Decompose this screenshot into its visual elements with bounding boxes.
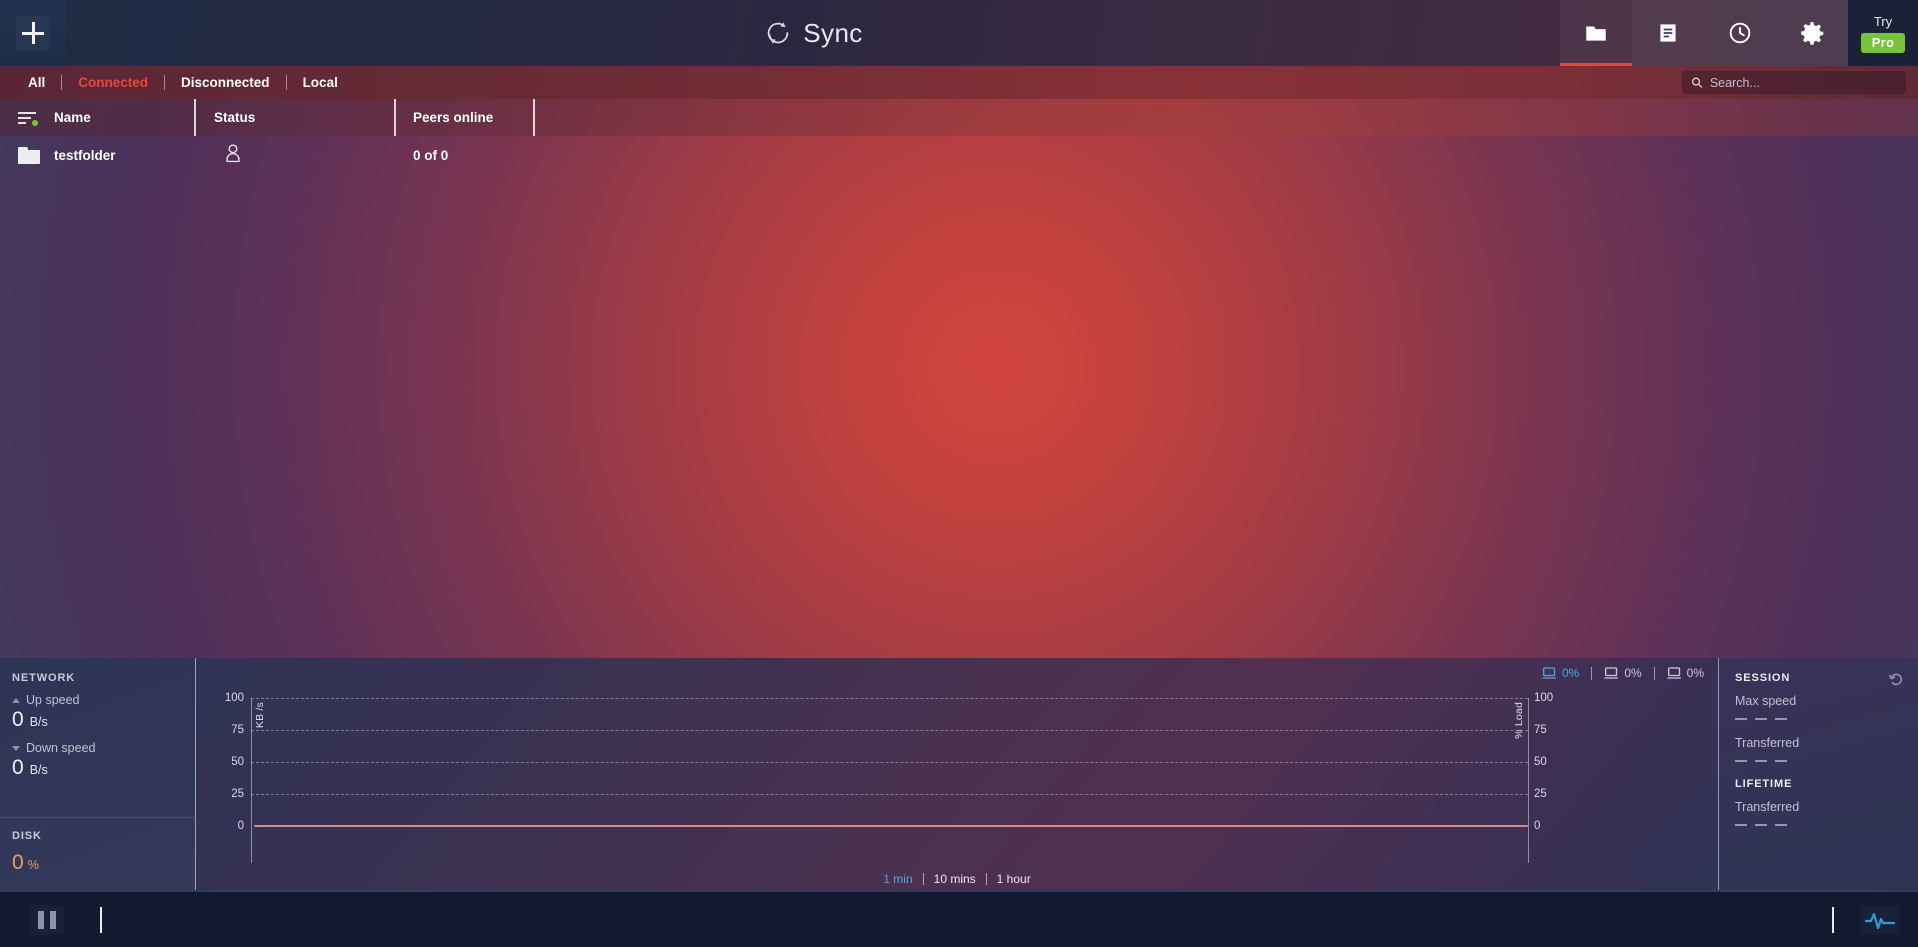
session-transferred-label: Transferred <box>1735 736 1902 750</box>
app-title-area: Sync <box>66 0 1560 66</box>
load-value-2: 0% <box>1624 666 1641 680</box>
disk-unit: % <box>28 858 39 872</box>
lifetime-transferred-value <box>1735 824 1902 826</box>
load-indicator-1: 0% <box>1542 666 1579 680</box>
chart-y2tick-75: 75 <box>1534 724 1568 736</box>
chart-y2tick-25: 25 <box>1534 788 1568 800</box>
chart-ytick-50: 50 <box>210 756 244 768</box>
load-divider <box>1654 667 1655 680</box>
chart-y-axis-left-label: KB /s <box>254 702 266 728</box>
app-title: Sync <box>803 18 862 49</box>
pause-icon[interactable] <box>30 905 64 935</box>
filter-connected[interactable]: Connected <box>62 75 164 90</box>
load-divider <box>1591 667 1592 680</box>
down-speed-value-row: 0 B/s <box>12 756 183 780</box>
add-folder-cell <box>0 0 66 66</box>
search-icon <box>1691 76 1703 89</box>
filter-disconnected[interactable]: Disconnected <box>165 75 286 90</box>
session-stats-panel: SESSION Max speed Transferred LIFETIME T… <box>1718 658 1918 890</box>
load-value-3: 0% <box>1687 666 1704 680</box>
column-header-peers[interactable]: Peers online <box>396 99 535 136</box>
down-speed-label-row: Down speed <box>12 741 183 755</box>
filter-all[interactable]: All <box>12 75 61 90</box>
chart-gridline <box>251 698 1528 699</box>
load-indicator-3: 0% <box>1667 666 1704 680</box>
try-label: Try <box>1874 14 1892 29</box>
column-header-status[interactable]: Status <box>196 99 396 136</box>
chart-gridline <box>251 762 1528 763</box>
chart-time-range-selector: 1 min 10 mins 1 hour <box>196 872 1718 886</box>
chart-y2tick-100: 100 <box>1534 692 1568 704</box>
chart-ytick-25: 25 <box>210 788 244 800</box>
clock-icon <box>1727 20 1753 46</box>
down-speed-unit: B/s <box>30 763 48 777</box>
chart-ytick-0: 0 <box>210 820 244 832</box>
column-header-status-label: Status <box>214 110 255 125</box>
row-peers-cell: 0 of 0 <box>396 148 535 163</box>
load-indicators: 0% 0% 0% <box>1542 666 1704 680</box>
time-range-10mins[interactable]: 10 mins <box>934 872 976 886</box>
sort-indicator-dot <box>32 120 38 126</box>
status-bar <box>0 890 1918 947</box>
load-indicator-2: 0% <box>1604 666 1641 680</box>
time-range-divider <box>986 873 987 885</box>
chart-gridline <box>251 730 1528 731</box>
top-bar: Sync <box>0 0 1918 66</box>
session-title: SESSION <box>1735 672 1902 684</box>
nav-devices-tab[interactable] <box>1632 0 1704 66</box>
disk-block: DISK 0 % <box>0 817 195 890</box>
chart-plot-area: KB /s 100 75 50 25 0 % Load 100 75 50 25… <box>196 686 1718 890</box>
device-list-icon <box>1655 20 1681 46</box>
folder-icon <box>18 147 40 164</box>
reset-counter-icon[interactable] <box>1888 671 1904 687</box>
search-box[interactable] <box>1682 71 1906 94</box>
chart-y-axis-right-label: % Load <box>1513 702 1525 739</box>
row-name-cell: testfolder <box>0 147 196 164</box>
column-header-peers-label: Peers online <box>413 110 493 125</box>
nav-folders-tab[interactable] <box>1560 0 1632 66</box>
row-status-cell <box>196 143 396 168</box>
column-header-name[interactable]: Name <box>0 99 196 136</box>
up-speed-label: Up speed <box>26 693 80 707</box>
time-range-1hour[interactable]: 1 hour <box>997 872 1031 886</box>
down-speed-value: 0 <box>12 756 24 780</box>
filter-local[interactable]: Local <box>287 75 354 90</box>
arrow-up-icon <box>12 698 20 703</box>
try-pro-button[interactable]: Try Pro <box>1848 0 1918 66</box>
table-header-row: Name Status Peers online <box>0 99 1918 136</box>
status-divider <box>100 907 102 933</box>
chart-y2tick-0: 0 <box>1534 820 1568 832</box>
chart-y-axis-right <box>1528 698 1529 863</box>
load-value-1: 0% <box>1562 666 1579 680</box>
down-speed-label: Down speed <box>26 741 96 755</box>
nav-preferences-tab[interactable] <box>1776 0 1848 66</box>
folder-name: testfolder <box>54 148 116 163</box>
status-divider <box>1832 907 1834 933</box>
peers-online-value: 0 of 0 <box>413 148 448 163</box>
add-folder-button[interactable] <box>16 16 50 50</box>
activity-pulse-icon[interactable] <box>1860 905 1900 935</box>
time-range-1min[interactable]: 1 min <box>883 872 912 886</box>
chart-series-line <box>254 825 1528 827</box>
top-nav: Try Pro <box>1560 0 1918 66</box>
sync-app-window: Sync <box>0 0 1918 947</box>
status-bar-right <box>1832 905 1900 935</box>
lifetime-transferred-label: Transferred <box>1735 800 1902 814</box>
chart-gridline <box>251 794 1528 795</box>
search-input[interactable] <box>1710 76 1897 90</box>
gear-icon <box>1799 20 1825 46</box>
disk-value-row: 0 % <box>12 851 183 875</box>
up-speed-label-row: Up speed <box>12 693 183 707</box>
chart-ytick-75: 75 <box>210 724 244 736</box>
filter-bar: All Connected Disconnected Local <box>0 66 1918 99</box>
up-speed-value-row: 0 B/s <box>12 708 183 732</box>
monitor-icon <box>1667 666 1682 680</box>
arrow-down-icon <box>12 746 20 751</box>
monitor-icon <box>1542 666 1557 680</box>
lifetime-title: LIFETIME <box>1735 778 1902 790</box>
disk-title: DISK <box>12 830 183 842</box>
nav-history-tab[interactable] <box>1704 0 1776 66</box>
column-header-name-label: Name <box>54 110 91 125</box>
disk-value: 0 <box>12 851 24 875</box>
session-transferred-value <box>1735 760 1902 762</box>
chart-y2tick-50: 50 <box>1534 756 1568 768</box>
person-icon <box>224 143 242 168</box>
transfer-chart: 0% 0% 0% <box>196 658 1718 890</box>
up-speed-unit: B/s <box>30 715 48 729</box>
session-max-speed-label: Max speed <box>1735 694 1902 708</box>
folder-icon <box>1583 20 1609 46</box>
network-stats-panel: NETWORK Up speed 0 B/s Down speed 0 B/s <box>0 658 196 890</box>
pro-badge: Pro <box>1861 33 1906 53</box>
up-speed-value: 0 <box>12 708 24 732</box>
time-range-divider <box>923 873 924 885</box>
session-max-speed-value <box>1735 718 1902 720</box>
sort-filter-icon[interactable] <box>18 111 38 125</box>
bottom-panel: NETWORK Up speed 0 B/s Down speed 0 B/s <box>0 658 1918 890</box>
network-title: NETWORK <box>12 672 183 684</box>
monitor-icon <box>1604 666 1619 680</box>
chart-y-axis-left <box>251 698 252 863</box>
sync-circular-arrow-icon <box>763 18 793 48</box>
table-row[interactable]: testfolder 0 of 0 <box>0 136 1918 174</box>
network-block: NETWORK Up speed 0 B/s Down speed 0 B/s <box>0 658 195 817</box>
folder-list-area: Name Status Peers online testfolder <box>0 99 1918 658</box>
chart-ytick-100: 100 <box>210 692 244 704</box>
